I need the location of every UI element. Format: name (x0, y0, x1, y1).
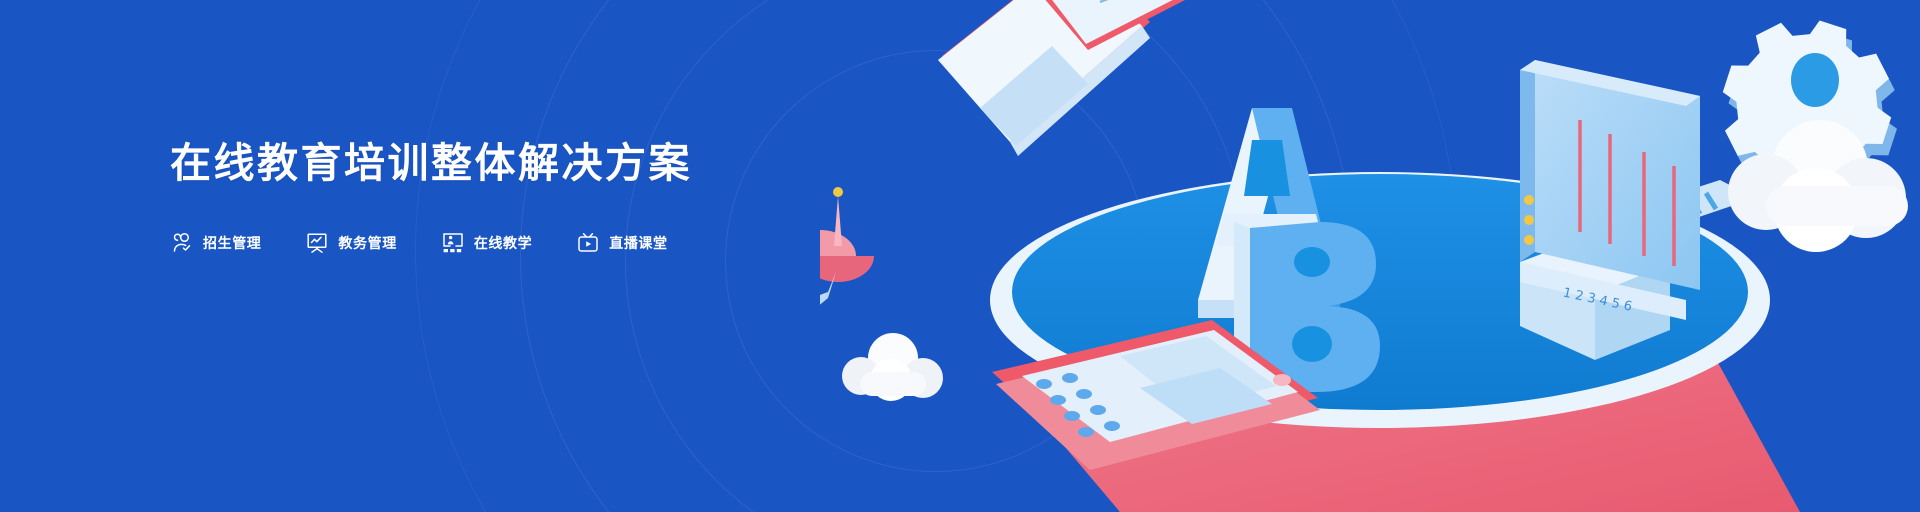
tv-play-icon (576, 231, 600, 255)
page-title: 在线教育培训整体解决方案 (170, 140, 790, 187)
spinning-top (820, 187, 874, 314)
education-illustration: 1 2 3 4 5 6 (820, 0, 1920, 512)
feature-label: 招生管理 (203, 233, 261, 253)
chart-easel-icon (305, 231, 329, 255)
education-banner: 1 2 3 4 5 6 (0, 0, 1920, 512)
cloud-small-left (835, 332, 955, 402)
open-book (938, 0, 1220, 156)
feature-label: 直播课堂 (609, 233, 667, 253)
feature-item-online-teaching[interactable]: 在线教学 (441, 231, 532, 255)
feature-label: 在线教学 (474, 233, 532, 253)
feature-item-live-class[interactable]: 直播课堂 (576, 231, 667, 255)
feature-label: 教务管理 (338, 233, 396, 253)
banner-copy: 在线教育培训整体解决方案 招生管理 (170, 140, 790, 255)
feature-item-recruitment[interactable]: 招生管理 (170, 231, 261, 255)
feature-item-academic[interactable]: 教务管理 (305, 231, 396, 255)
feature-list: 招生管理 教务管理 (170, 231, 790, 255)
presenter-board-icon (441, 231, 465, 255)
person-check-icon (170, 231, 194, 255)
